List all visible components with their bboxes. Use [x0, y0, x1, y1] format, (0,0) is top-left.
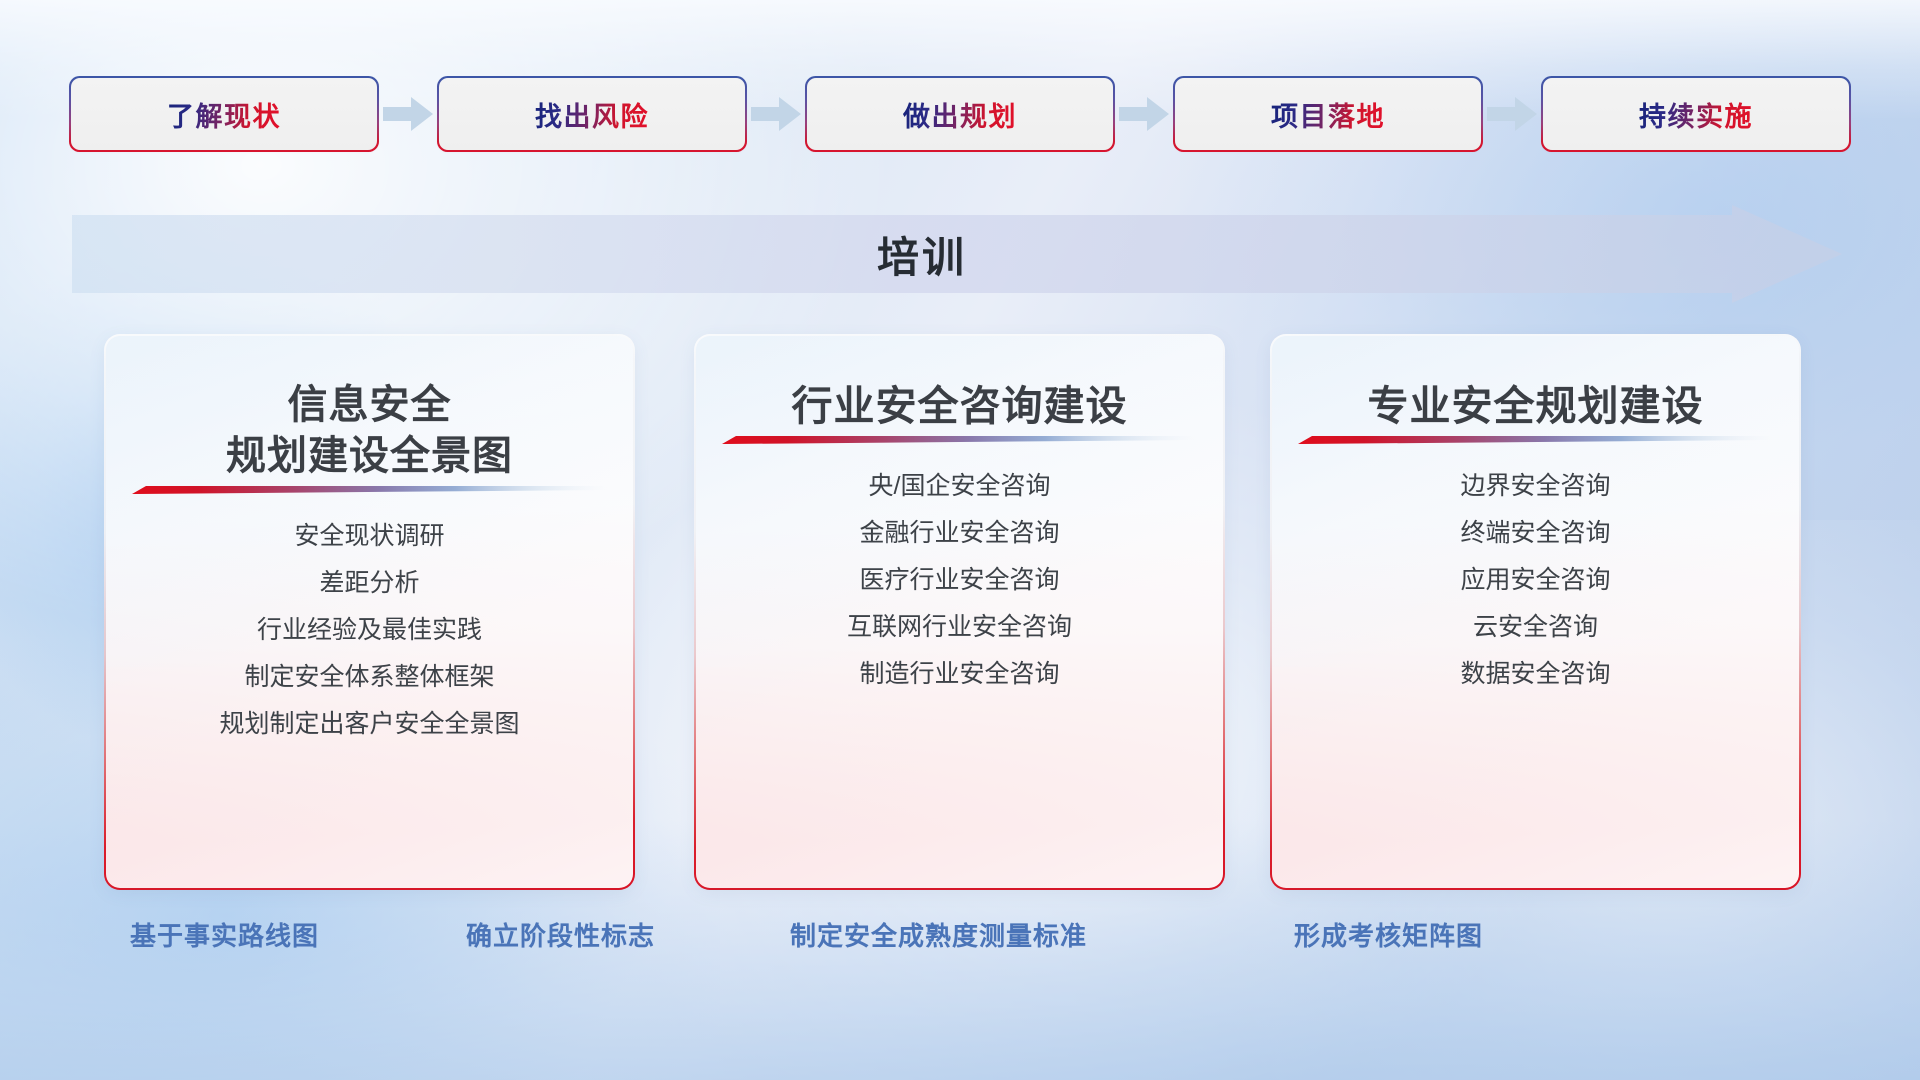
list-item: 安全现状调研	[132, 524, 607, 549]
list-item: 云安全咨询	[1298, 615, 1773, 640]
right-arrow-icon	[1113, 78, 1175, 150]
card-industry-security-consulting[interactable]: 行业安全咨询建设	[696, 336, 1223, 888]
list-item: 医疗行业安全咨询	[722, 568, 1197, 593]
list-item: 差距分析	[132, 571, 607, 596]
bottom-label-3: 制定安全成熟度测量标准	[790, 916, 1087, 953]
card-divider	[132, 482, 607, 494]
process-step-2[interactable]: 找出风险	[439, 78, 745, 150]
process-step-label: 找出风险	[535, 95, 649, 134]
list-item: 制定安全体系整体框架	[132, 665, 607, 690]
card-divider	[722, 432, 1197, 444]
process-step-1[interactable]: 了解现状	[71, 78, 377, 150]
cards-row: 信息安全 规划建设全景图	[0, 336, 1920, 888]
process-step-3[interactable]: 做出规划	[807, 78, 1113, 150]
card-item-list: 央/国企安全咨询 金融行业安全咨询 医疗行业安全咨询 互联网行业安全咨询 制造行…	[722, 474, 1197, 687]
card-item-list: 安全现状调研 差距分析 行业经验及最佳实践 制定安全体系整体框架 规划制定出客户…	[132, 524, 607, 737]
list-item: 终端安全咨询	[1298, 521, 1773, 546]
list-item: 金融行业安全咨询	[722, 521, 1197, 546]
list-item: 规划制定出客户安全全景图	[132, 712, 607, 737]
process-step-row: 了解现状 找出风险 做出规划	[0, 78, 1920, 150]
list-item: 互联网行业安全咨询	[722, 615, 1197, 640]
list-item: 边界安全咨询	[1298, 474, 1773, 499]
card-item-list: 边界安全咨询 终端安全咨询 应用安全咨询 云安全咨询 数据安全咨询	[1298, 474, 1773, 687]
infographic-stage: 了解现状 找出风险 做出规划	[0, 0, 1920, 1080]
process-step-5[interactable]: 持续实施	[1543, 78, 1849, 150]
card-title: 信息安全 规划建设全景图	[132, 380, 607, 482]
bottom-label-4: 形成考核矩阵图	[1294, 916, 1483, 953]
right-arrow-icon	[377, 78, 439, 150]
process-step-4[interactable]: 项目落地	[1175, 78, 1481, 150]
list-item: 制造行业安全咨询	[722, 662, 1197, 687]
card-title: 专业安全规划建设	[1298, 380, 1773, 432]
training-banner: 培训	[72, 205, 1842, 303]
process-step-label: 持续实施	[1639, 95, 1753, 134]
training-label: 培训	[877, 224, 967, 285]
card-title: 行业安全咨询建设	[722, 380, 1197, 432]
card-divider	[1298, 432, 1773, 444]
list-item: 应用安全咨询	[1298, 568, 1773, 593]
list-item: 央/国企安全咨询	[722, 474, 1197, 499]
training-label-wrap: 培训	[72, 205, 1772, 303]
list-item: 行业经验及最佳实践	[132, 618, 607, 643]
right-arrow-icon	[1481, 78, 1543, 150]
bottom-label-1: 基于事实路线图	[130, 916, 319, 953]
card-professional-security-planning[interactable]: 专业安全规划建设	[1272, 336, 1799, 888]
list-item: 数据安全咨询	[1298, 662, 1773, 687]
process-step-label: 做出规划	[903, 95, 1017, 134]
right-arrow-icon	[745, 78, 807, 150]
process-step-label: 项目落地	[1271, 95, 1385, 134]
process-step-label: 了解现状	[167, 95, 281, 134]
card-information-security-blueprint[interactable]: 信息安全 规划建设全景图	[106, 336, 633, 888]
bottom-label-2: 确立阶段性标志	[466, 916, 655, 953]
bottom-label-row: 基于事实路线图 确立阶段性标志 制定安全成熟度测量标准 形成考核矩阵图	[0, 916, 1920, 966]
